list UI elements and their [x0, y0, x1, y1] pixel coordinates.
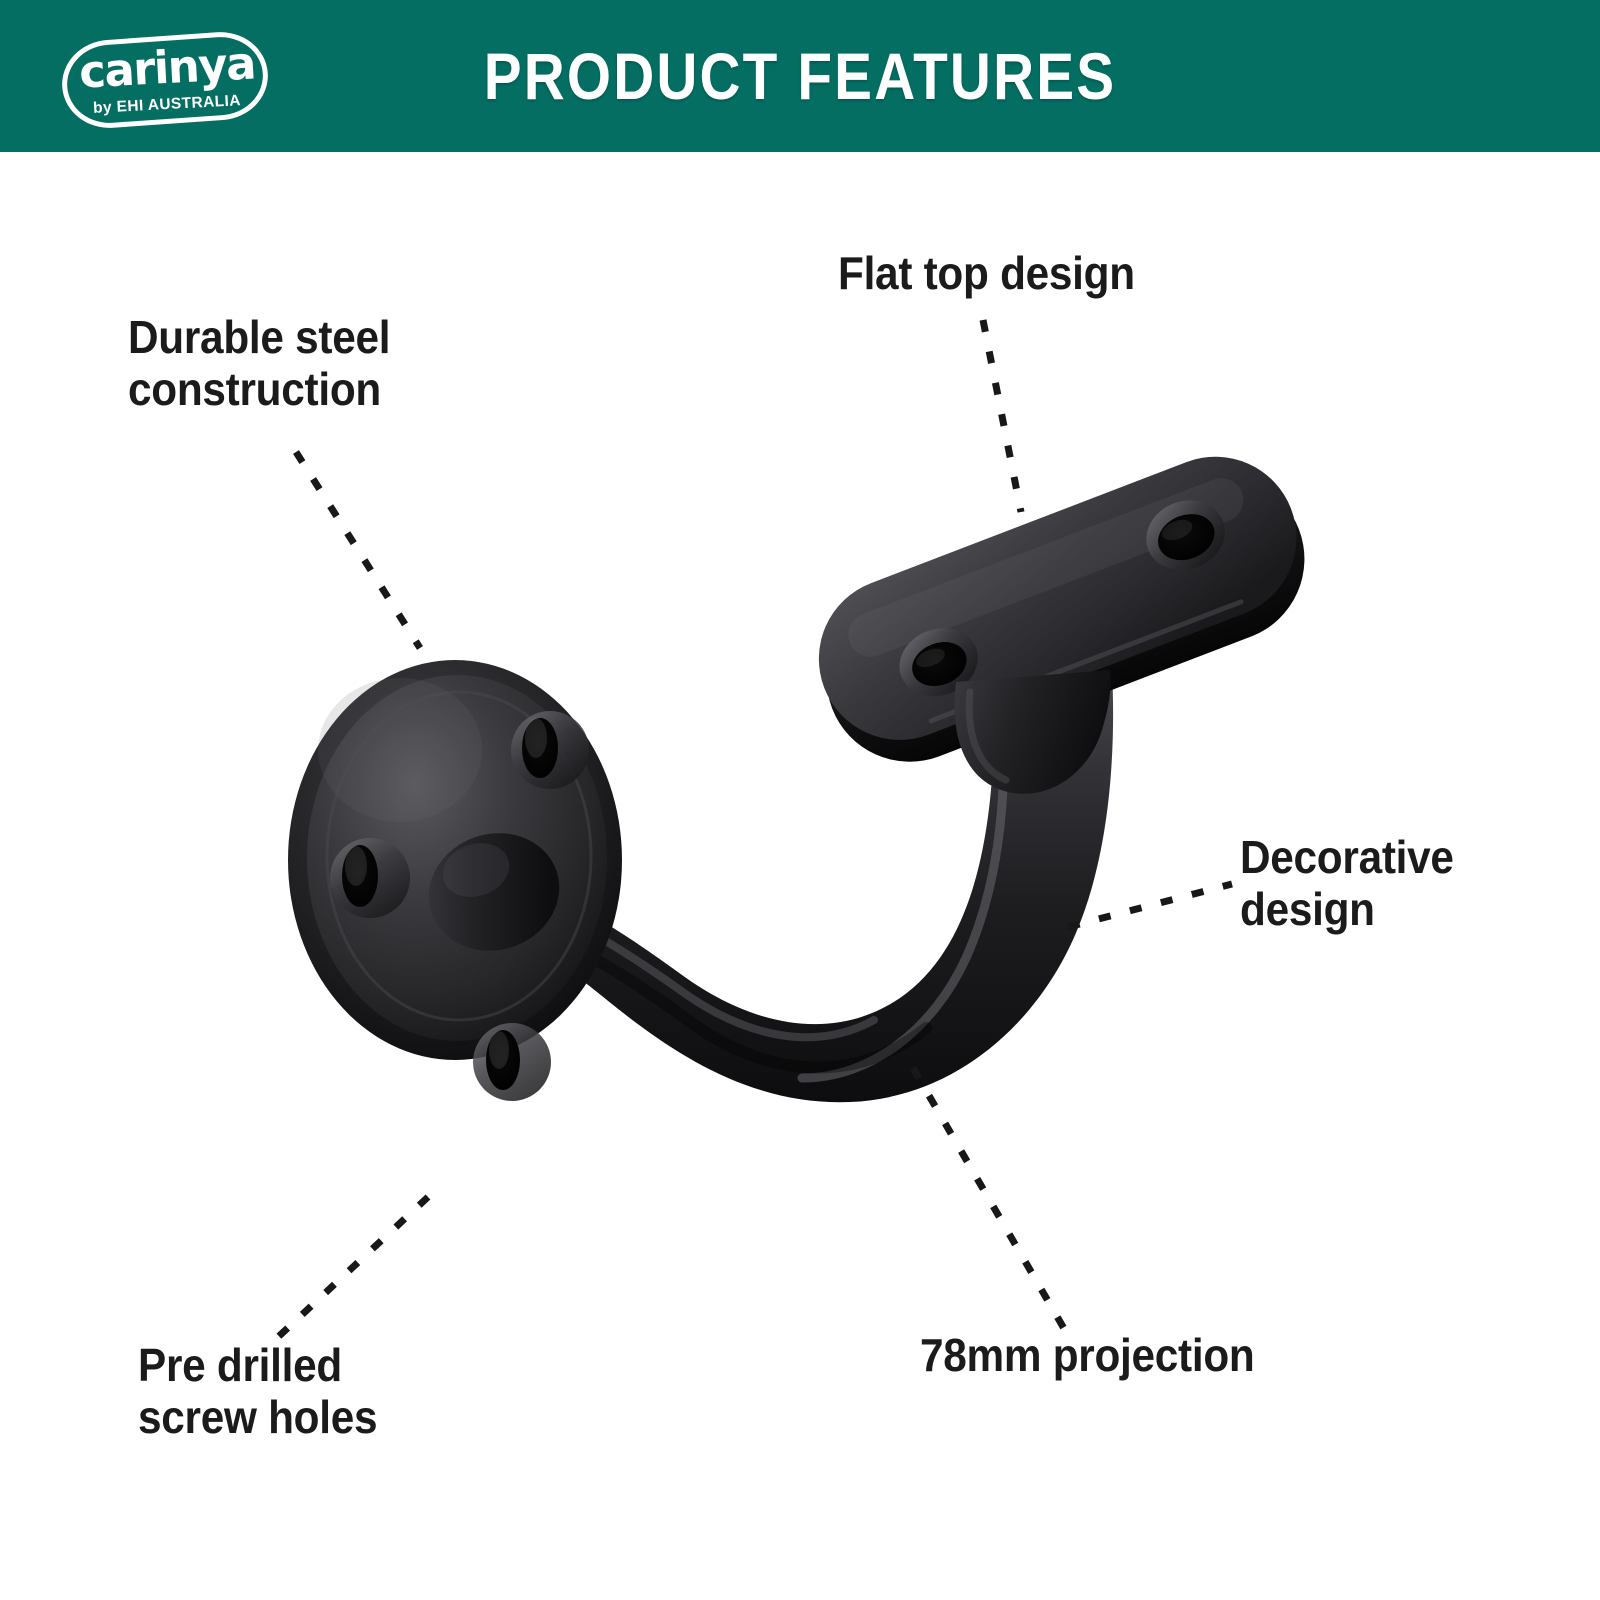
callout-pre-drilled-screw-holes: Pre drilled screw holes — [138, 1340, 377, 1443]
base-screw-hole-left — [330, 838, 410, 918]
base-screw-hole-top — [511, 711, 589, 789]
product-image-handrail-bracket — [250, 430, 1360, 1220]
base-screw-hole-bottom — [473, 1023, 551, 1101]
product-features-infographic: PRODUCT FEATURES carinya by EHI AUSTRALI… — [0, 0, 1600, 1600]
logo-wordmark: carinya — [55, 39, 279, 96]
callout-decorative-design: Decorative design — [1240, 832, 1516, 935]
page-title: PRODUCT FEATURES — [112, 0, 1488, 152]
callout-flat-top-design: Flat top design — [838, 248, 1135, 300]
callout-durable-steel-construction: Durable steel construction — [128, 312, 390, 415]
callout-78mm-projection: 78mm projection — [920, 1330, 1255, 1382]
brand-logo: carinya by EHI AUSTRALIA — [56, 28, 278, 134]
